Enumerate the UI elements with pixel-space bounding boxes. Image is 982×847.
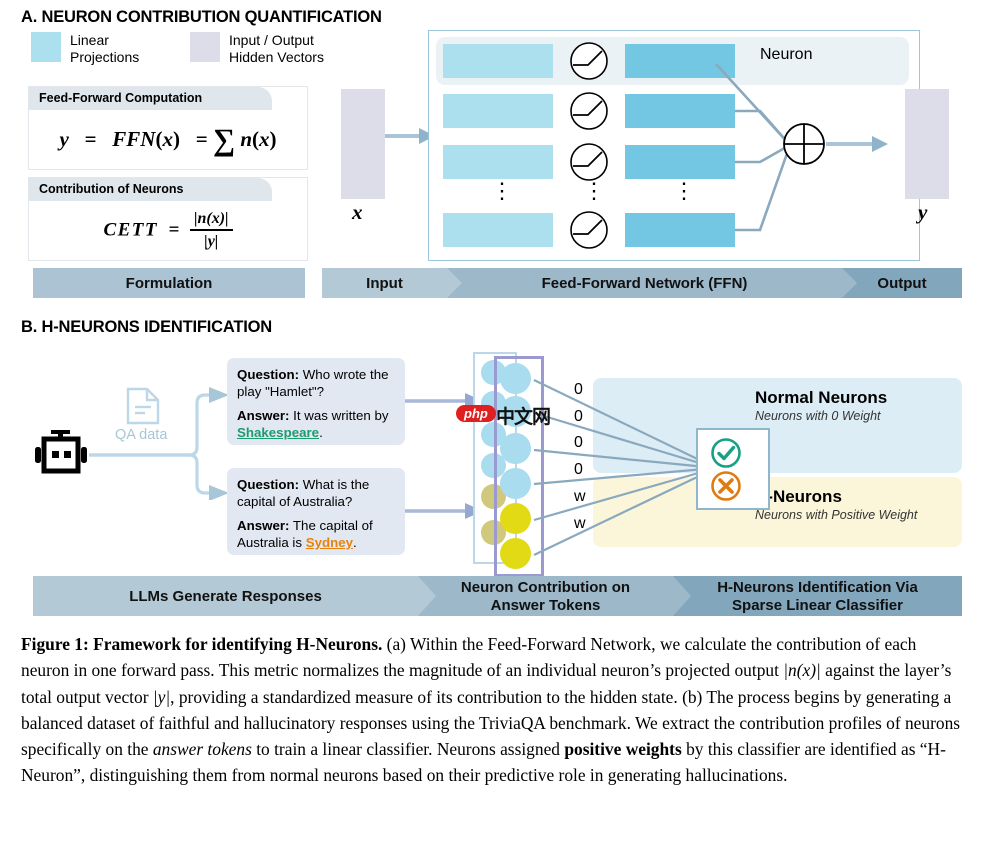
caption-math-nx: |n(x)| xyxy=(783,660,821,680)
chevron-icon xyxy=(447,268,462,298)
section-a-title: A. NEURON CONTRIBUTION QUANTIFICATION xyxy=(21,8,382,27)
cross-circle-icon xyxy=(710,470,742,502)
result-title-normal-neurons: Normal Neurons xyxy=(755,388,962,408)
robot-icon xyxy=(32,430,90,480)
activation-function-icon xyxy=(569,41,609,81)
result-title-h-neurons: H-Neurons xyxy=(755,487,962,507)
legend-item-hidden-vectors: Input / Output Hidden Vectors xyxy=(190,32,324,65)
arrow-robot-to-qa-split xyxy=(89,370,229,500)
figure-caption: Figure 1: Framework for identifying H-Ne… xyxy=(21,631,961,789)
sum-node-icon xyxy=(782,122,826,166)
ellipsis-linear: ⋮ xyxy=(491,178,513,204)
banner-pipeline-b: LLMs Generate Responses Neuron Contribut… xyxy=(33,576,962,616)
banner-pipeline-a: Input Feed-Forward Network (FFN) Output xyxy=(322,268,962,298)
chevron-icon xyxy=(418,576,436,616)
banner-segment-output: Output xyxy=(842,268,962,298)
caption-italic-answer-tokens: answer tokens xyxy=(153,739,252,759)
output-vector-label: y xyxy=(918,200,927,225)
banner-segment-ffn: Feed-Forward Network (FFN) xyxy=(447,268,842,298)
ellipsis-output: ⋮ xyxy=(673,178,695,204)
neuron-h xyxy=(500,538,531,569)
section-b-title: B. H-NEURONS IDENTIFICATION xyxy=(21,318,272,337)
legend-swatch-hidden-vectors xyxy=(190,32,220,62)
linear-projection-block xyxy=(443,213,553,247)
legend-label-hidden-vectors-line2: Hidden Vectors xyxy=(229,49,324,66)
legend-item-linear-projections: Linear Projections xyxy=(31,32,139,65)
linear-projection-block xyxy=(443,44,553,78)
activation-function-icon xyxy=(569,142,609,182)
caption-lead: Figure 1: Framework for identifying H-Ne… xyxy=(21,634,382,654)
result-subtitle-normal-neurons: Neurons with 0 Weight xyxy=(755,408,962,424)
qa-card-faithful: Question: Who wrote the play "Hamlet"? A… xyxy=(227,358,405,445)
qa-question-faithful: Question: Who wrote the play "Hamlet"? xyxy=(237,366,395,400)
card-feed-forward-computation: Feed-Forward Computation y = FFN(x) = ∑ … xyxy=(28,86,308,170)
answer-highlight-faithful: Shakespeare xyxy=(237,425,319,440)
neuron-normal xyxy=(500,468,531,499)
caption-math-y: |y| xyxy=(153,687,170,707)
figure-framework: A. NEURON CONTRIBUTION QUANTIFICATION Li… xyxy=(0,0,982,847)
linear-projection-block xyxy=(443,94,553,128)
neuron-normal xyxy=(500,363,531,394)
neuron-normal xyxy=(500,433,531,464)
qa-answer-hallucination: Answer: The capital of Australia is Sydn… xyxy=(237,517,395,551)
check-circle-icon xyxy=(710,437,742,469)
qa-answer-faithful: Answer: It was written by Shakespeare. xyxy=(237,407,395,441)
banner-formulation: Formulation xyxy=(33,268,305,298)
banner-segment-neuron-contribution: Neuron Contribution on Answer Tokens xyxy=(418,576,673,616)
card-header-contribution-of-neurons: Contribution of Neurons xyxy=(29,178,272,201)
banner-segment-h-neurons-identification: H-Neurons Identification Via Sparse Line… xyxy=(673,576,962,616)
ellipsis-activation: ⋮ xyxy=(583,178,605,204)
qa-card-hallucination: Question: What is the capital of Austral… xyxy=(227,468,405,555)
output-hidden-vector xyxy=(905,89,949,199)
caption-bold-positive-weights: positive weights xyxy=(564,739,681,759)
qa-question-hallucination: Question: What is the capital of Austral… xyxy=(237,476,395,510)
legend-label-linear-projections-line1: Linear xyxy=(70,32,139,49)
card-contribution-of-neurons: Contribution of Neurons CETT = |n(x)| |y… xyxy=(28,177,308,261)
answer-highlight-hallucination: Sydney xyxy=(306,535,353,550)
formula-ffn: y = FFN(x) = ∑ n(x) xyxy=(60,127,277,152)
banner-segment-input: Input xyxy=(322,268,447,298)
result-subtitle-h-neurons: Neurons with Positive Weight xyxy=(755,507,962,523)
legend-label-hidden-vectors-line1: Input / Output xyxy=(229,32,324,49)
watermark-php-badge: php xyxy=(456,405,496,423)
arrow-hallucination-to-neurons xyxy=(405,501,483,521)
legend-label-linear-projections-line2: Projections xyxy=(70,49,139,66)
legend-swatch-linear-projections xyxy=(31,32,61,62)
classifier-connectors xyxy=(528,370,718,570)
activation-function-icon xyxy=(569,91,609,131)
chevron-icon xyxy=(673,576,691,616)
banner-segment-formulation: Formulation xyxy=(33,268,305,298)
banner-segment-llms-generate-responses: LLMs Generate Responses xyxy=(33,576,418,616)
neuron-h xyxy=(500,503,531,534)
linear-projection-block xyxy=(443,145,553,179)
chevron-icon xyxy=(842,268,857,298)
caption-part-4: to train a linear classifier. Neurons as… xyxy=(252,739,564,759)
activation-function-icon xyxy=(569,210,609,250)
card-header-feed-forward-computation: Feed-Forward Computation xyxy=(29,87,272,110)
arrow-sum-to-output xyxy=(826,134,888,154)
input-vector-label: x xyxy=(352,200,363,225)
input-hidden-vector xyxy=(341,89,385,199)
watermark-chinese-text: 中文网 xyxy=(496,402,550,429)
formula-cett: CETT = |n(x)| |y| xyxy=(103,210,232,251)
